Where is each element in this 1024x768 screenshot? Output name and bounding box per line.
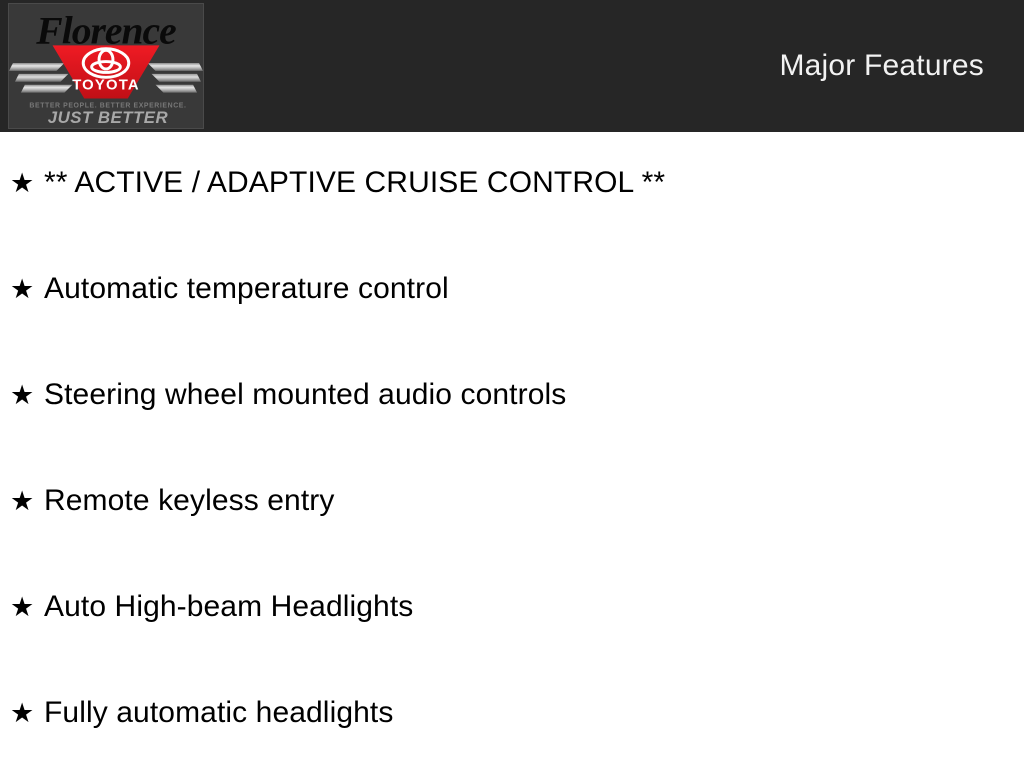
- slide-header-bar: TOYOTA Florence BETTER PEOPLE. BETTER EX…: [0, 0, 1024, 132]
- star-bullet-icon: ★: [10, 276, 44, 303]
- list-item-label: Automatic temperature control: [44, 274, 449, 304]
- major-features-list: ★ ** ACTIVE / ADAPTIVE CRUISE CONTROL **…: [0, 132, 1024, 768]
- list-item-label: Auto High-beam Headlights: [44, 592, 413, 622]
- list-item-label: Steering wheel mounted audio controls: [44, 380, 566, 410]
- svg-text:Florence: Florence: [35, 8, 176, 52]
- star-bullet-icon: ★: [10, 594, 44, 621]
- dealer-logo-artwork: TOYOTA Florence BETTER PEOPLE. BETTER EX…: [9, 4, 203, 128]
- svg-text:TOYOTA: TOYOTA: [72, 78, 140, 94]
- star-bullet-icon: ★: [10, 170, 44, 197]
- list-item-label: Remote keyless entry: [44, 486, 334, 516]
- list-item: ★ Automatic temperature control: [10, 274, 449, 304]
- list-item-label: ** ACTIVE / ADAPTIVE CRUISE CONTROL **: [44, 168, 665, 198]
- list-item: ★ Auto High-beam Headlights: [10, 592, 413, 622]
- star-bullet-icon: ★: [10, 700, 44, 727]
- star-bullet-icon: ★: [10, 382, 44, 409]
- list-item: ★ Fully automatic headlights: [10, 698, 393, 728]
- florence-toyota-logo-icon: TOYOTA Florence BETTER PEOPLE. BETTER EX…: [9, 4, 203, 128]
- dealer-logo: TOYOTA Florence BETTER PEOPLE. BETTER EX…: [8, 3, 204, 129]
- list-item: ★ ** ACTIVE / ADAPTIVE CRUISE CONTROL **: [10, 168, 665, 198]
- svg-text:JUST BETTER: JUST BETTER: [48, 108, 168, 127]
- star-bullet-icon: ★: [10, 488, 44, 515]
- page-title: Major Features: [779, 0, 984, 132]
- list-item: ★ Steering wheel mounted audio controls: [10, 380, 566, 410]
- list-item-label: Fully automatic headlights: [44, 698, 393, 728]
- list-item: ★ Remote keyless entry: [10, 486, 334, 516]
